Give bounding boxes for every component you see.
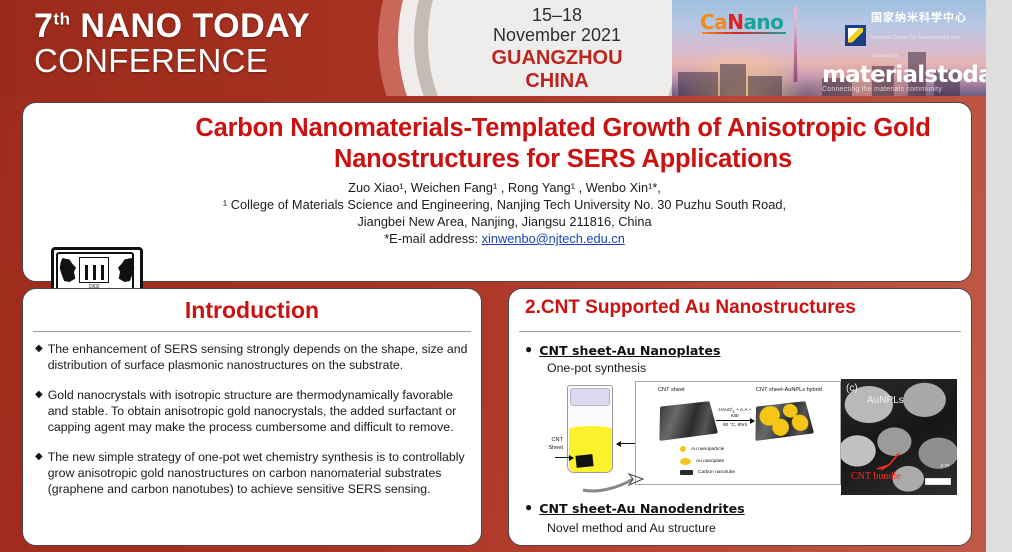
cnt-supported-au-panel: 2.CNT Supported Au Nanostructures ● CNT …: [508, 288, 972, 546]
canano-logo: CaNano: [700, 10, 783, 34]
introduction-body: ◆ The enhancement of SERS sensing strong…: [35, 341, 471, 511]
curved-pointer-arrow-icon: [581, 473, 651, 493]
legend-label: Au nanoplate: [696, 459, 724, 464]
subsection-nanoplates-label: CNT sheet-Au Nanoplates: [539, 343, 720, 358]
email-label: *E-mail address:: [384, 231, 481, 246]
conference-title-line1: 7th NANO TODAY: [34, 10, 310, 44]
conference-date-location: 15–18 November 2021 GUANGZHOU CHINA: [452, 5, 662, 92]
ncnst-mark-icon: [845, 25, 866, 46]
poster-title: Carbon Nanomaterials-Templated Growth of…: [163, 113, 963, 174]
legend-item-nanotube: Carbon nanotube: [680, 470, 735, 475]
scheme-left-caption: CNT sheet: [658, 387, 685, 393]
ncnst-logo: 国家纳米科学中心 National Center for Nanoscience…: [845, 8, 986, 62]
reaction-conditions-top: HAuCl4 + A.A + KBr: [715, 408, 755, 419]
introduction-bullet-1: The enhancement of SERS sensing strongly…: [48, 341, 471, 374]
synthesis-scheme-figure: KBrHAuCl4Ascorbic Acid CNTSheet CNT shee…: [525, 381, 841, 493]
section-divider: [33, 331, 471, 332]
diamond-bullet-icon: ◆: [35, 449, 43, 498]
canano-underline: [702, 32, 786, 34]
round-bullet-icon: ●: [525, 343, 532, 356]
ordinal-suffix: th: [53, 10, 70, 29]
introduction-panel: Introduction ◆ The enhancement of SERS s…: [22, 288, 482, 546]
red-annotation-arrow-icon: [875, 451, 901, 471]
cnt-sheet-illustration: [659, 401, 718, 441]
ncnst-chinese-name: 国家纳米科学中心: [871, 11, 967, 24]
affiliation-line-2: Jiangbei New Area, Nanjing, Jiangsu 2118…: [47, 213, 962, 230]
section-divider: [519, 331, 961, 332]
carbon-nanotube-swatch: [680, 470, 693, 475]
title-panel: 1902 南京工业大学 NANJING NANJING TECH UNIVERS…: [22, 102, 972, 282]
scalebar-label: μ m: [941, 463, 949, 469]
reaction-scheme-box: CNT sheet CNT sheet-AuNPLs hybrid HAuCl4…: [635, 381, 841, 485]
legend-item-nanoplate: Au nanoplate: [680, 458, 724, 465]
list-item: ◆ The enhancement of SERS sensing strong…: [35, 341, 471, 374]
email-line: *E-mail address: xinwenbo@njtech.edu.cn: [47, 230, 962, 247]
subsection-nanodendrites-label: CNT sheet-Au Nanodendrites: [539, 501, 744, 516]
ncnst-english-name: National Center for Nanoscience and Tech…: [871, 35, 960, 59]
gate-icon: [79, 257, 109, 283]
email-link[interactable]: xinwenbo@njtech.edu.cn: [482, 231, 625, 246]
date-month-year: November 2021: [452, 25, 662, 45]
list-item: ◆ Gold nanocrystals with isotropic struc…: [35, 387, 471, 436]
skyline-block: [678, 72, 718, 96]
diamond-bullet-icon: ◆: [35, 387, 43, 436]
conference-banner: 7th NANO TODAY CONFERENCE 15–18 November…: [0, 0, 986, 96]
page-gutter: [986, 0, 1012, 552]
legend-item-nanoparticle: Au nanoparticle: [680, 446, 724, 452]
reaction-conditions-bottom: 90 °C, 8hrs: [715, 423, 755, 428]
canano-ca: Ca: [700, 10, 727, 34]
ncnst-logo-text: 国家纳米科学中心 National Center for Nanoscience…: [871, 8, 986, 62]
subsection-nanodendrites-caption: Novel method and Au structure: [547, 521, 716, 535]
conference-country: CHINA: [452, 70, 662, 92]
conference-city: GUANGZHOU: [452, 47, 662, 69]
cnt-sheet-chip: [575, 454, 593, 468]
materialstoday-wordmark: materialstoday: [822, 62, 986, 88]
authors-and-affiliation: Zuo Xiao¹, Weichen Fang¹ , Rong Yang¹ , …: [47, 179, 962, 247]
poster-canvas: 7th NANO TODAY CONFERENCE 15–18 November…: [0, 0, 986, 552]
affiliation-line-1: ¹ College of Materials Science and Engin…: [47, 196, 962, 213]
scheme-right-caption: CNT sheet-AuNPLs hybrid: [756, 387, 822, 393]
scalebar: [925, 478, 951, 485]
gold-nanoplate-swatch: [680, 458, 691, 465]
legend-label: Au nanoparticle: [691, 447, 724, 452]
cnt-sheet-arrow-icon: [555, 457, 573, 458]
conference-name: NANO TODAY: [70, 7, 310, 45]
date-range: 15–18: [452, 5, 662, 25]
diamond-bullet-icon: ◆: [35, 341, 43, 374]
aunpls-annotation: AuNPLs: [867, 395, 904, 406]
introduction-bullet-2: Gold nanocrystals with isotropic structu…: [48, 387, 471, 436]
introduction-bullet-3: The new simple strategy of one-pot wet c…: [48, 449, 471, 498]
beaker-cap: [570, 388, 610, 406]
list-item: ◆ The new simple strategy of one-pot wet…: [35, 449, 471, 498]
panel-letter-label: (c): [846, 383, 858, 394]
materialstoday-logo: materialstoday Connecting the materials …: [822, 62, 986, 93]
canano-ano: ano: [743, 10, 783, 34]
conference-title: 7th NANO TODAY CONFERENCE: [34, 10, 310, 77]
legend-label: Carbon nanotube: [698, 470, 735, 475]
cnt-sheet-label: CNTSheet: [529, 437, 563, 453]
subsection-nanoplates: ● CNT sheet-Au Nanoplates: [525, 343, 720, 358]
gold-nanoparticle-swatch: [680, 446, 686, 452]
skyline-block: [720, 64, 746, 96]
reaction-arrow-icon: [716, 420, 754, 421]
canton-tower-spire: [794, 6, 797, 18]
skyline-block: [748, 76, 782, 96]
sem-micrograph-panel-c: (c) AuNPLs CNT bundle μ m: [841, 379, 957, 495]
cnt-bundle-annotation: CNT bundle: [851, 471, 901, 482]
ordinal-number: 7: [34, 7, 53, 45]
subsection-nanodendrites: ● CNT sheet-Au Nanodendrites: [525, 501, 745, 516]
cnt-au-hybrid-illustration: [755, 401, 814, 441]
canano-n: N: [727, 10, 743, 34]
conference-title-line2: CONFERENCE: [34, 45, 310, 78]
authors-line: Zuo Xiao¹, Weichen Fang¹ , Rong Yang¹ , …: [47, 179, 962, 196]
subsection-nanoplates-caption: One-pot synthesis: [547, 361, 646, 375]
introduction-heading: Introduction: [23, 297, 481, 324]
reagents-arrow-icon: [617, 443, 635, 444]
round-bullet-icon: ●: [525, 501, 532, 514]
cnt-section-heading: 2.CNT Supported Au Nanostructures: [509, 297, 971, 319]
